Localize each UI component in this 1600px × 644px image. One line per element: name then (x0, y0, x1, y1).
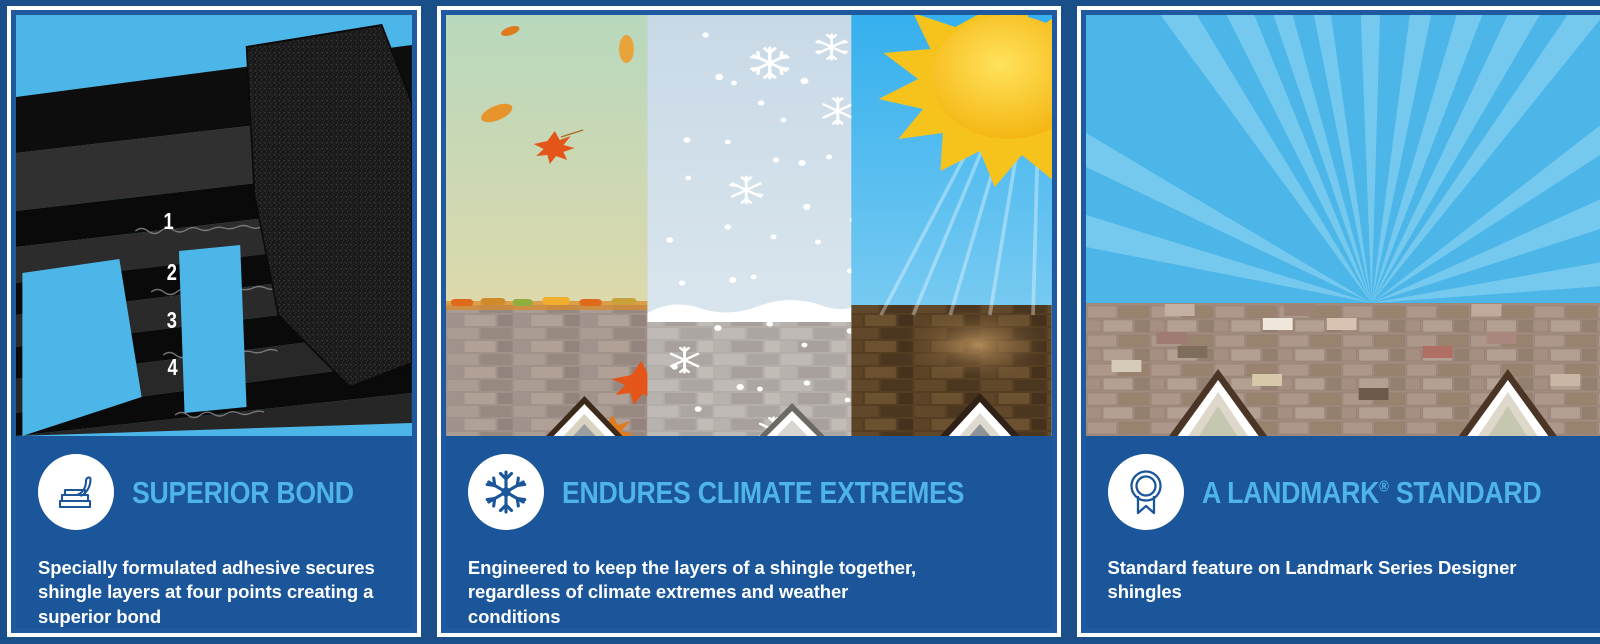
panel-title-tail: STANDARD (1388, 475, 1541, 510)
panel-inner: ENDURES CLIMATE EXTREMES Engineered to k… (441, 10, 1057, 633)
panel-body-text: Engineered to keep the layers of a shing… (468, 556, 938, 629)
panel-endures-climate-extremes: ENDURES CLIMATE EXTREMES Engineered to k… (437, 6, 1061, 637)
panel-a-landmark-standard: A LANDMARK® STANDARD Standard feature on… (1077, 6, 1600, 637)
layer-number-1: 1 (164, 209, 174, 234)
panel-title: A LANDMARK® STANDARD (1202, 477, 1541, 508)
blue-cutout-right (179, 245, 247, 413)
infographic-root: 1 2 3 4 (0, 0, 1600, 644)
caption-header: SUPERIOR BOND (38, 454, 390, 530)
layer-number-3: 3 (167, 308, 177, 333)
caption-header: A LANDMARK® STANDARD (1108, 454, 1597, 530)
panel-superior-bond: 1 2 3 4 (7, 6, 421, 637)
season-winter (647, 15, 855, 436)
registered-trademark-symbol: ® (1379, 478, 1389, 495)
hero-three-seasons (446, 15, 1052, 436)
layer-number-2: 2 (167, 260, 177, 285)
panel-inner: 1 2 3 4 (11, 10, 417, 633)
snowflake-icon (468, 454, 544, 530)
panel-title: SUPERIOR BOND (132, 477, 354, 508)
caption-block: ENDURES CLIMATE EXTREMES Engineered to k… (446, 436, 1052, 629)
award-ribbon-icon (1108, 454, 1184, 530)
panel-title-main: A LANDMARK (1202, 475, 1379, 510)
panel-body-text: Standard feature on Landmark Series Desi… (1108, 556, 1578, 605)
panel-body-text: Specially formulated adhesive secures sh… (38, 556, 390, 629)
shingle-layers-icon (38, 454, 114, 530)
caption-block: A LANDMARK® STANDARD Standard feature on… (1086, 436, 1600, 628)
layer-number-4: 4 (168, 355, 179, 380)
caption-header: ENDURES CLIMATE EXTREMES (468, 454, 1030, 530)
hero-shingle-layers: 1 2 3 4 (16, 15, 412, 436)
season-summer (851, 15, 1051, 436)
caption-block: SUPERIOR BOND Specially formulated adhes… (16, 436, 412, 629)
panel-inner: A LANDMARK® STANDARD Standard feature on… (1081, 10, 1600, 633)
hero-sunburst-roof (1086, 15, 1600, 436)
panel-title: ENDURES CLIMATE EXTREMES (562, 477, 964, 508)
